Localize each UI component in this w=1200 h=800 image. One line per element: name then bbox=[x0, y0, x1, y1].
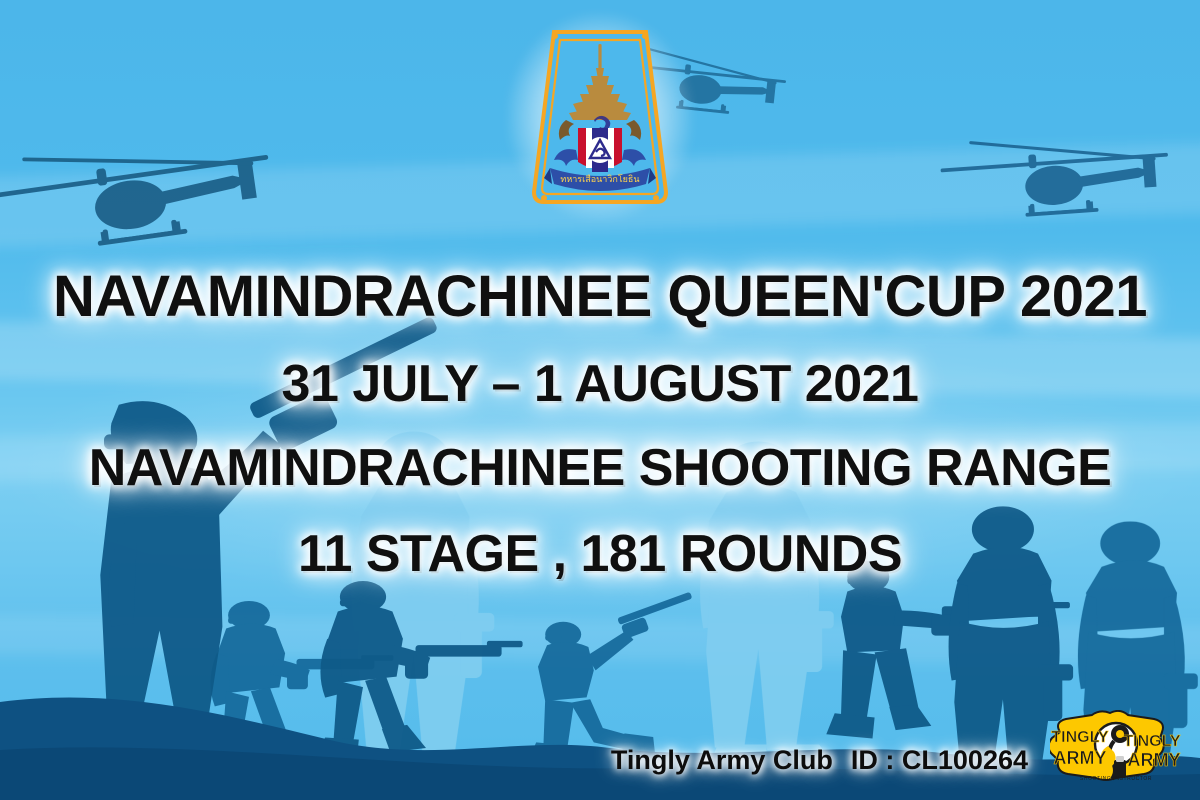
badge-line-2: ARMY bbox=[1054, 748, 1107, 768]
helicopter-icon bbox=[0, 124, 277, 260]
event-title: NAVAMINDRACHINEE QUEEN'CUP 2021 bbox=[0, 268, 1200, 326]
helicopter-icon bbox=[939, 127, 1172, 222]
navamindrachinee-emblem: ทหารเสือนาวิกโยธิน bbox=[520, 22, 680, 212]
footer-credit: Tingly Army Club ID : CL100264 bbox=[611, 745, 1028, 776]
headline-block: NAVAMINDRACHINEE QUEEN'CUP 2021 31 JULY … bbox=[0, 268, 1200, 580]
tingly-army-logo: TINGLY TINGLY ARMY ARMY SHOOTING INSTRUC… bbox=[1050, 710, 1182, 790]
thai-flag-shield bbox=[578, 128, 622, 172]
event-poster: ทหารเสือนาวิกโยธิน NAVAMINDRACHINEE QUEE… bbox=[0, 0, 1200, 800]
event-format: 11 STAGE , 181 ROUNDS bbox=[0, 528, 1200, 580]
badge-line-1b: TINGLY bbox=[1123, 733, 1181, 750]
emblem-ribbon-text: ทหารเสือนาวิกโยธิน bbox=[560, 174, 639, 185]
badge-line-2b: ARMY bbox=[1128, 750, 1181, 770]
club-name: Tingly Army Club bbox=[611, 745, 833, 776]
badge-line-1: TINGLY bbox=[1051, 729, 1109, 746]
event-venue: NAVAMINDRACHINEE SHOOTING RANGE bbox=[0, 442, 1200, 494]
badge-tagline: SHOOTING INSTRUCTOR bbox=[1080, 776, 1152, 782]
club-id: ID : CL100264 bbox=[851, 745, 1028, 776]
event-dates: 31 JULY – 1 AUGUST 2021 bbox=[0, 358, 1200, 410]
